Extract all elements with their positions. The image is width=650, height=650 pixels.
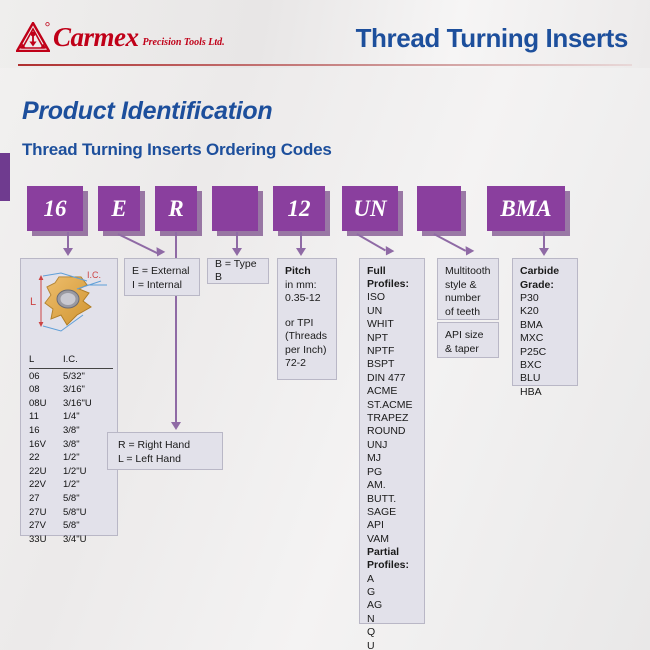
list-item: K20	[520, 305, 570, 318]
insert-geometry-diagram-icon: L I.C.	[21, 263, 117, 347]
table-row: 275/8"	[29, 492, 113, 506]
cell-ic: 3/8"	[63, 424, 113, 438]
list-item: NPT	[367, 332, 417, 345]
pitch-tpi-note-2: per Inch)	[285, 344, 329, 358]
list-item: ROUND	[367, 425, 417, 438]
carmex-triangle-logo-icon	[16, 22, 50, 52]
pitch-tpi-note-1: (Threads	[285, 330, 329, 344]
full-profiles-list: ISO UN WHIT NPT NPTF BSPT DIN 477 ACME S…	[367, 291, 417, 546]
table-row: 16V3/8"	[29, 438, 113, 452]
list-item: DIN 477	[367, 372, 417, 385]
table-row: 33U3/4"U	[29, 533, 113, 547]
cell-l: 16	[29, 424, 63, 438]
api-line-2: & taper	[445, 343, 491, 357]
cell-l: 08U	[29, 397, 63, 411]
list-item: API	[367, 519, 417, 532]
code-box-profile[interactable]: UN	[342, 186, 398, 231]
list-item: Q	[367, 626, 417, 639]
connector-arrow-size	[63, 248, 73, 256]
list-item: UN	[367, 305, 417, 318]
logo-wordmark: Carmex	[53, 24, 139, 51]
carbide-grade-box: Carbide Grade: P30 K20 BMA MXC P25C BXC …	[512, 258, 578, 386]
cell-l: 08	[29, 383, 63, 397]
svg-text:L: L	[30, 296, 36, 308]
table-row: 083/16"	[29, 383, 113, 397]
internal-label: I = Internal	[132, 279, 192, 293]
svg-text:I.C.: I.C.	[87, 270, 101, 280]
connector-arrow-multitooth	[462, 246, 475, 258]
cell-ic: 3/16"U	[63, 397, 113, 411]
partial-profiles-heading-line1: Partial	[367, 546, 417, 559]
table-row: 22V1/2"	[29, 478, 113, 492]
connector-arrow-type	[232, 248, 242, 256]
cell-ic: 3/16"	[63, 383, 113, 397]
table-row: 22U1/2"U	[29, 465, 113, 479]
cell-ic: 1/2"U	[63, 465, 113, 479]
list-item: A	[367, 573, 417, 586]
list-item: UNJ	[367, 439, 417, 452]
carbide-grade-list: P30 K20 BMA MXC P25C BXC BLU HBA	[520, 292, 570, 399]
cell-ic: 3/8"	[63, 438, 113, 452]
list-item: TRAPEZ	[367, 412, 417, 425]
list-item: ACME	[367, 385, 417, 398]
cell-l: 22V	[29, 478, 63, 492]
connector-arrow-pitch	[296, 248, 306, 256]
column-header-l: L	[29, 353, 63, 367]
section-subtitle: Thread Turning Inserts Ordering Codes	[22, 140, 332, 160]
cell-l: 27	[29, 492, 63, 506]
code-box-type[interactable]	[212, 186, 258, 231]
pitch-tpi-label: or TPI	[285, 317, 329, 331]
column-header-ic: I.C.	[63, 353, 113, 367]
logo-tagline: Precision Tools Ltd.	[143, 38, 225, 48]
list-item: MJ	[367, 452, 417, 465]
pitch-tpi-range: 72-2	[285, 357, 329, 371]
partial-profiles-heading-line2: Profiles:	[367, 559, 417, 572]
section-title: Product Identification	[22, 97, 272, 126]
cell-l: 22	[29, 451, 63, 465]
list-item: NPTF	[367, 345, 417, 358]
page-header: Carmex Precision Tools Ltd. Thread Turni…	[0, 0, 650, 68]
purple-accent-bar	[0, 153, 10, 201]
table-row: 163/8"	[29, 424, 113, 438]
thread-profiles-box: Full Profiles: ISO UN WHIT NPT NPTF BSPT…	[359, 258, 425, 624]
code-box-pitch[interactable]: 12	[273, 186, 325, 231]
cell-ic: 5/32"	[63, 370, 113, 384]
external-internal-box: E = External I = Internal	[124, 258, 200, 296]
list-item: N	[367, 613, 417, 626]
list-item: SAGE	[367, 506, 417, 519]
cell-ic: 3/4"U	[63, 533, 113, 547]
cell-l: 27V	[29, 519, 63, 533]
cell-ic: 1/2"	[63, 478, 113, 492]
list-item: BXC	[520, 359, 570, 372]
connector-line-multitooth	[434, 233, 466, 251]
cell-ic: 5/8"	[63, 492, 113, 506]
type-b-label: B = Type B	[215, 258, 261, 285]
list-item: PG	[367, 466, 417, 479]
pitch-mm-range: 0.35-12	[285, 292, 329, 306]
left-hand-label: L = Left Hand	[118, 453, 215, 467]
list-item: HBA	[520, 386, 570, 399]
right-hand-label: R = Right Hand	[118, 439, 215, 453]
list-item: AG	[367, 599, 417, 612]
connector-line-profile	[357, 233, 386, 251]
multitooth-line-2: style &	[445, 279, 491, 293]
size-reference-table: L I.C. 065/32" 083/16" 08U3/16"U 111/4" …	[29, 353, 113, 546]
table-row: 08U3/16"U	[29, 397, 113, 411]
list-item: BLU	[520, 372, 570, 385]
cell-l: 27U	[29, 506, 63, 520]
list-item: WHIT	[367, 318, 417, 331]
connector-arrow-direction	[171, 422, 181, 430]
cell-ic: 1/4"	[63, 410, 113, 424]
list-item: ST.ACME	[367, 399, 417, 412]
cell-ic: 1/2"	[63, 451, 113, 465]
connector-arrow-grade	[539, 248, 549, 256]
table-header-row: L I.C.	[29, 353, 113, 369]
list-item: BMA	[520, 319, 570, 332]
document-page: Carmex Precision Tools Ltd. Thread Turni…	[0, 0, 650, 650]
table-row: 221/2"	[29, 451, 113, 465]
list-item: P25C	[520, 346, 570, 359]
hand-direction-box: R = Right Hand L = Left Hand	[107, 432, 223, 470]
list-item: G	[367, 586, 417, 599]
table-row: 111/4"	[29, 410, 113, 424]
cell-l: 16V	[29, 438, 63, 452]
insert-dimension-box: L I.C. L I.C. 065/32" 083/16" 08U3/16"U …	[20, 258, 118, 536]
api-size-box: API size & taper	[437, 322, 499, 358]
carbide-heading-line1: Carbide	[520, 265, 570, 279]
cell-l: 33U	[29, 533, 63, 547]
multitooth-line-1: Multitooth	[445, 265, 491, 279]
cell-l: 22U	[29, 465, 63, 479]
header-divider	[18, 64, 632, 66]
connector-arrow-profile	[382, 246, 395, 258]
code-box-direction[interactable]: R	[155, 186, 197, 231]
pitch-heading: Pitch	[285, 265, 329, 279]
table-row: 27V5/8"	[29, 519, 113, 533]
table-row: 27U5/8"U	[29, 506, 113, 520]
pitch-spacer	[285, 306, 329, 317]
code-box-multitooth[interactable]	[417, 186, 461, 231]
cell-ic: 5/8"U	[63, 506, 113, 520]
external-label: E = External	[132, 265, 192, 279]
connector-line-ei	[118, 233, 158, 254]
list-item: ISO	[367, 291, 417, 304]
page-title: Thread Turning Inserts	[356, 23, 628, 54]
full-profiles-heading-line1: Full	[367, 265, 417, 278]
multitooth-line-3: number	[445, 292, 491, 306]
multitooth-line-4: of teeth	[445, 306, 491, 320]
api-line-1: API size	[445, 329, 491, 343]
carbide-heading-line2: Grade:	[520, 279, 570, 293]
cell-l: 11	[29, 410, 63, 424]
full-profiles-heading-line2: Profiles:	[367, 278, 417, 291]
code-box-size[interactable]: 16	[27, 186, 83, 231]
cell-l: 06	[29, 370, 63, 384]
list-item: MXC	[520, 332, 570, 345]
brand-logo: Carmex Precision Tools Ltd.	[16, 22, 225, 52]
insert-type-box: B = Type B	[207, 258, 269, 284]
pitch-box: Pitch in mm: 0.35-12 or TPI (Threads per…	[277, 258, 337, 380]
code-box-handedness-ei[interactable]: E	[98, 186, 140, 231]
table-row: 065/32"	[29, 370, 113, 384]
list-item: BSPT	[367, 358, 417, 371]
list-item: P30	[520, 292, 570, 305]
multitooth-box: Multitooth style & number of teeth	[437, 258, 499, 320]
list-item: VAM	[367, 533, 417, 546]
list-item: U	[367, 640, 417, 650]
list-item: AM. BUTT.	[367, 479, 417, 506]
partial-profiles-list: A G AG N Q U	[367, 573, 417, 650]
code-box-grade[interactable]: BMA	[487, 186, 565, 231]
pitch-mm-label: in mm:	[285, 279, 329, 293]
cell-ic: 5/8"	[63, 519, 113, 533]
